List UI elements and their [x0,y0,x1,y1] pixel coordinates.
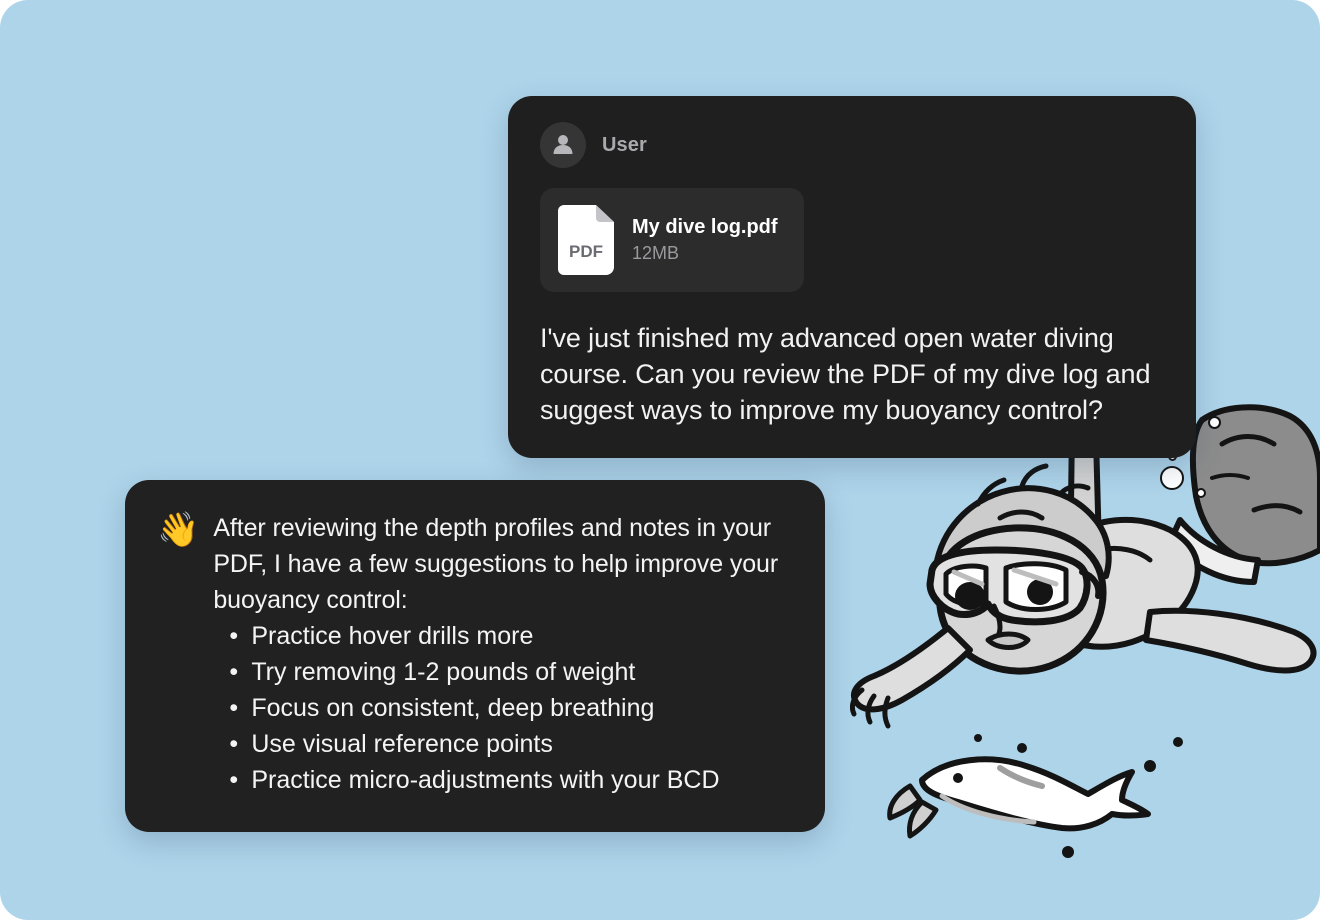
waving-hand-icon: 👋 [157,512,199,548]
message-header: User [540,122,1164,168]
attachment-chip[interactable]: PDF My dive log.pdf 12MB [540,188,804,292]
assistant-message-card: 👋 After reviewing the depth profiles and… [125,480,825,832]
attachment-meta: My dive log.pdf 12MB [632,216,778,264]
user-avatar-icon [540,122,586,168]
assistant-message-body: 👋 After reviewing the depth profiles and… [157,510,793,798]
svg-text:PDF: PDF [569,242,603,261]
attachment-file-name: My dive log.pdf [632,216,778,238]
user-message-text: I've just finished my advanced open wate… [540,320,1164,428]
air-bubble [1208,416,1221,429]
user-message-card: User PDF My dive log.pdf 12MB I've just … [508,96,1196,458]
screenshot-canvas: User PDF My dive log.pdf 12MB I've just … [0,0,1320,920]
attachment-file-size: 12MB [632,244,778,264]
list-item: Try removing 1-2 pounds of weight [251,654,793,690]
air-bubble [1160,466,1184,490]
list-item: Practice hover drills more [251,618,793,654]
assistant-intro-text: After reviewing the depth profiles and n… [213,510,793,618]
list-item: Focus on consistent, deep breathing [251,690,793,726]
list-item: Practice micro-adjustments with your BCD [251,762,793,798]
air-bubble [1196,488,1206,498]
message-author: User [602,134,647,157]
suggestions-list: Practice hover drills more Try removing … [213,618,793,798]
list-item: Use visual reference points [251,726,793,762]
pdf-file-icon: PDF [558,205,614,275]
